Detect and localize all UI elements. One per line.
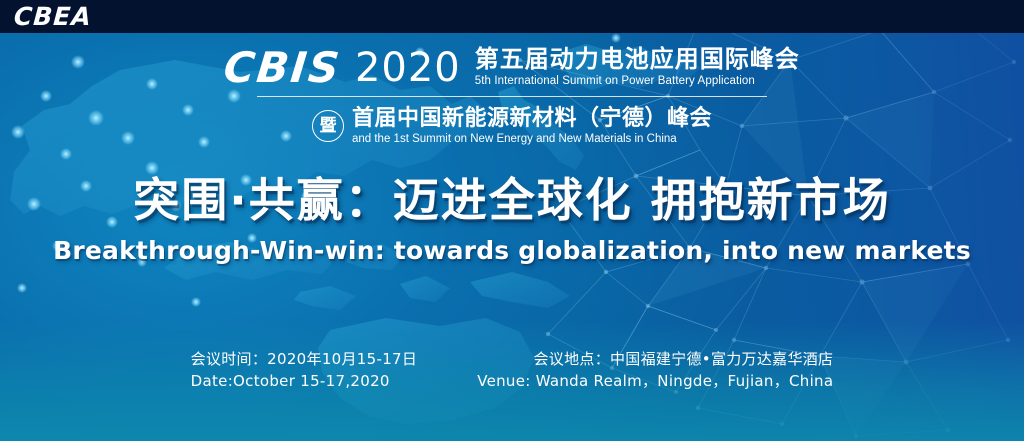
cbea-logo[interactable]: CBEA (13, 3, 93, 30)
top-bar: CBEA (0, 0, 1024, 33)
conference-banner: CBEA CBIS 2020 第五届动力电池应用国际峰会 5th Interna… (0, 0, 1024, 441)
date-block: 会议时间：2020年10月15-17日 Date:October 15-17,2… (191, 348, 418, 392)
venue-cn: 会议地点：中国福建宁德•富力万达嘉华酒店 (534, 348, 834, 370)
cbis-wordmark: CBIS (222, 47, 343, 89)
date-en: Date:October 15-17,2020 (191, 370, 418, 392)
event-subtitle-en: and the 1st Summit on New Energy and New… (352, 132, 677, 146)
event-title-row: CBIS 2020 第五届动力电池应用国际峰会 5th Internationa… (0, 46, 1024, 89)
ji-badge-icon: 暨 (312, 110, 344, 142)
event-title-block: 第五届动力电池应用国际峰会 5th International Summit o… (475, 46, 800, 89)
slogan-block: 突围·共赢：迈进全球化 拥抱新市场 Breakthrough-Win-win: … (0, 172, 1024, 268)
slogan-cn: 突围·共赢：迈进全球化 拥抱新市场 (0, 172, 1024, 228)
event-title-en: 5th International Summit on Power Batter… (475, 74, 755, 88)
event-subtitle-block: 首届中国新能源新材料（宁德）峰会 and the 1st Summit on N… (352, 106, 712, 146)
footer-info: 会议时间：2020年10月15-17日 Date:October 15-17,2… (0, 348, 1024, 392)
venue-en: Venue: Wanda Realm，Ningde，Fujian，China (477, 370, 833, 392)
event-year: 2020 (355, 47, 461, 89)
event-subtitle-cn: 首届中国新能源新材料（宁德）峰会 (352, 106, 712, 131)
venue-block: 会议地点：中国福建宁德•富力万达嘉华酒店 Venue: Wanda Realm，… (477, 348, 833, 392)
event-title-cn: 第五届动力电池应用国际峰会 (475, 46, 800, 73)
event-header: CBIS 2020 第五届动力电池应用国际峰会 5th Internationa… (0, 46, 1024, 146)
header-divider (257, 96, 767, 97)
slogan-en: Breakthrough-Win-win: towards globalizat… (0, 234, 1024, 268)
event-subtitle-row: 暨 首届中国新能源新材料（宁德）峰会 and the 1st Summit on… (0, 106, 1024, 146)
date-cn: 会议时间：2020年10月15-17日 (191, 348, 418, 370)
